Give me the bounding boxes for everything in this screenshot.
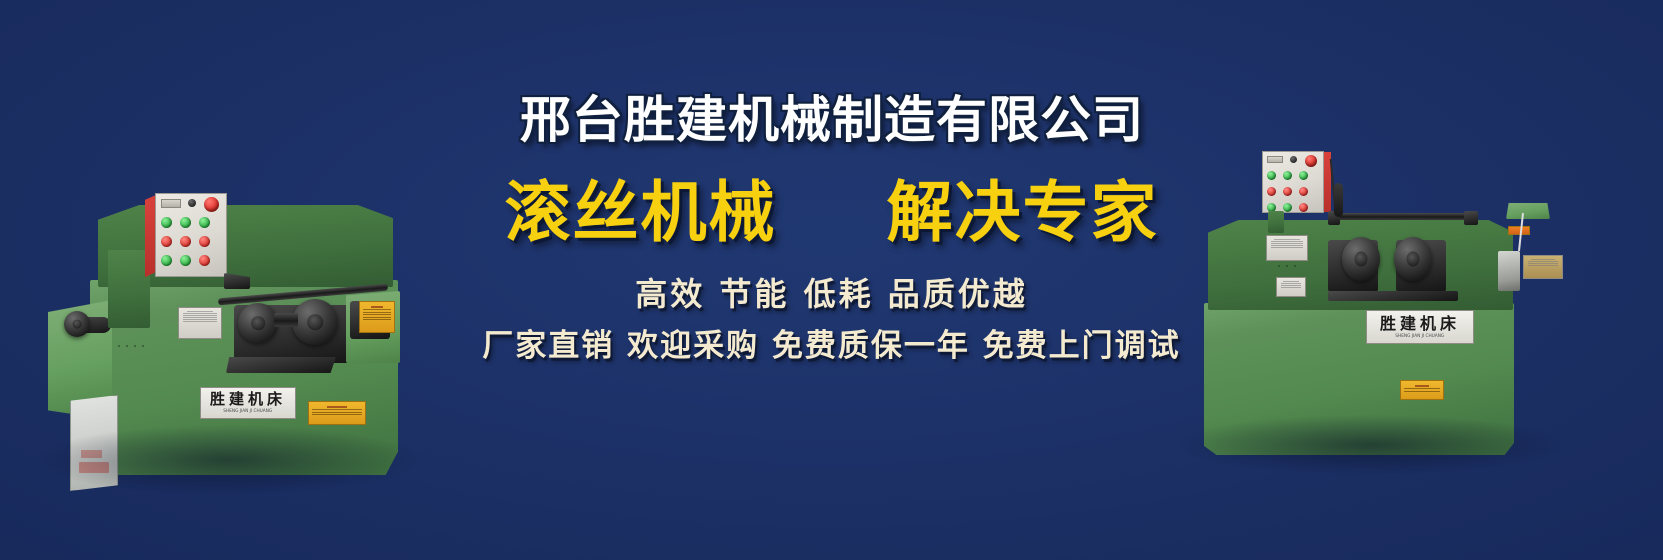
machine-spec-plate [178, 307, 222, 339]
headline-left: 滚丝机械 [505, 174, 777, 252]
machine-shadow [38, 425, 418, 495]
company-name: 邢台胜建机械制造有限公司 [424, 90, 1240, 150]
indicator-lamp-green[interactable] [1283, 171, 1292, 180]
machine-photo-left: 胜建机床 SHENG JIAN JI CHUANG [28, 95, 428, 480]
indicator-lamp-red[interactable] [180, 236, 191, 247]
roller-die-right [1394, 237, 1432, 281]
shaft-bracket-right [1464, 211, 1478, 225]
indicator-lamp-green[interactable] [199, 217, 210, 228]
control-pillar [1268, 211, 1284, 233]
warning-label-right [1400, 380, 1444, 400]
coolant-nozzle-assembly [1498, 251, 1520, 291]
indicator-lamp-green[interactable] [161, 217, 172, 228]
sub-line-services: 厂家直销 欢迎采购 免费质保一年 免费上门调试 [432, 326, 1232, 366]
brand-nameplate-right: 胜建机床 SHENG JIAN JI CHUANG [1366, 310, 1474, 344]
tool-rest [1506, 203, 1550, 219]
brand-nameplate-left: 胜建机床 SHENG JIAN JI CHUANG [200, 387, 296, 419]
flexible-hose [1334, 183, 1343, 217]
panel-button-grid[interactable] [161, 217, 212, 268]
panel-selector-knob[interactable] [1290, 156, 1297, 163]
headstock-pulley [64, 311, 90, 337]
headline-row: 滚丝机械 解决专家 [432, 174, 1232, 252]
sub-line-features: 高效 节能 低耗 品质优越 [432, 274, 1232, 314]
brand-name-cn: 胜建机床 [210, 391, 286, 408]
machine-spec-plate [1266, 235, 1308, 261]
work-support-table [226, 357, 336, 373]
roller-connecting-shaft [274, 313, 298, 327]
emergency-stop-button[interactable] [204, 197, 219, 212]
indicator-lamp-red[interactable] [199, 255, 210, 266]
indicator-lamp-red[interactable] [199, 236, 210, 247]
indicator-lamp-green[interactable] [1267, 171, 1276, 180]
roller-die-right [292, 299, 338, 345]
indicator-lamp-red[interactable] [1299, 187, 1308, 196]
indicator-lamp-red[interactable] [161, 236, 172, 247]
brand-name-cn: 胜建机床 [1380, 314, 1460, 333]
emergency-stop-button[interactable] [1305, 155, 1317, 167]
machine-top-shaft [1336, 213, 1471, 220]
brand-name-en: SHENG JIAN JI CHUANG [1396, 334, 1445, 340]
indicator-lamp-green[interactable] [1299, 171, 1308, 180]
indicator-lamp-red[interactable] [1283, 187, 1292, 196]
panel-display [1267, 156, 1283, 163]
machine-info-plate [1276, 277, 1306, 297]
machine-shadow [1176, 415, 1566, 475]
indicator-lamp-green[interactable] [180, 217, 191, 228]
headline-right: 解决专家 [887, 174, 1159, 252]
indicator-lamp-green[interactable] [180, 255, 191, 266]
machine-spec-plate-right [1523, 255, 1563, 279]
roller-die-left [1342, 237, 1380, 281]
banner-text-block: 邢台胜建机械制造有限公司 滚丝机械 解决专家 高效 节能 低耗 品质优越 厂家直… [432, 90, 1232, 366]
warning-label-left [308, 401, 366, 425]
body-bolt-row [118, 345, 144, 347]
indicator-lamp-green[interactable] [161, 255, 172, 266]
brand-name-en: SHENG JIAN JI CHUANG [224, 409, 273, 415]
roller-die-left [238, 303, 278, 343]
control-pillar [108, 250, 150, 328]
warning-label-tailstock [359, 301, 395, 333]
work-support-table [1328, 291, 1458, 301]
indicator-lamp-green[interactable] [1283, 203, 1292, 212]
body-bolt-row [1278, 265, 1296, 267]
panel-button-grid[interactable] [1267, 171, 1310, 214]
indicator-lamp-red[interactable] [1299, 203, 1308, 212]
indicator-lamp-red[interactable] [1267, 187, 1276, 196]
promo-banner: 胜建机床 SHENG JIAN JI CHUANG 邢台胜建机械制造有限公司 滚… [0, 0, 1663, 560]
panel-display [161, 199, 181, 208]
panel-selector-knob[interactable] [188, 199, 196, 207]
